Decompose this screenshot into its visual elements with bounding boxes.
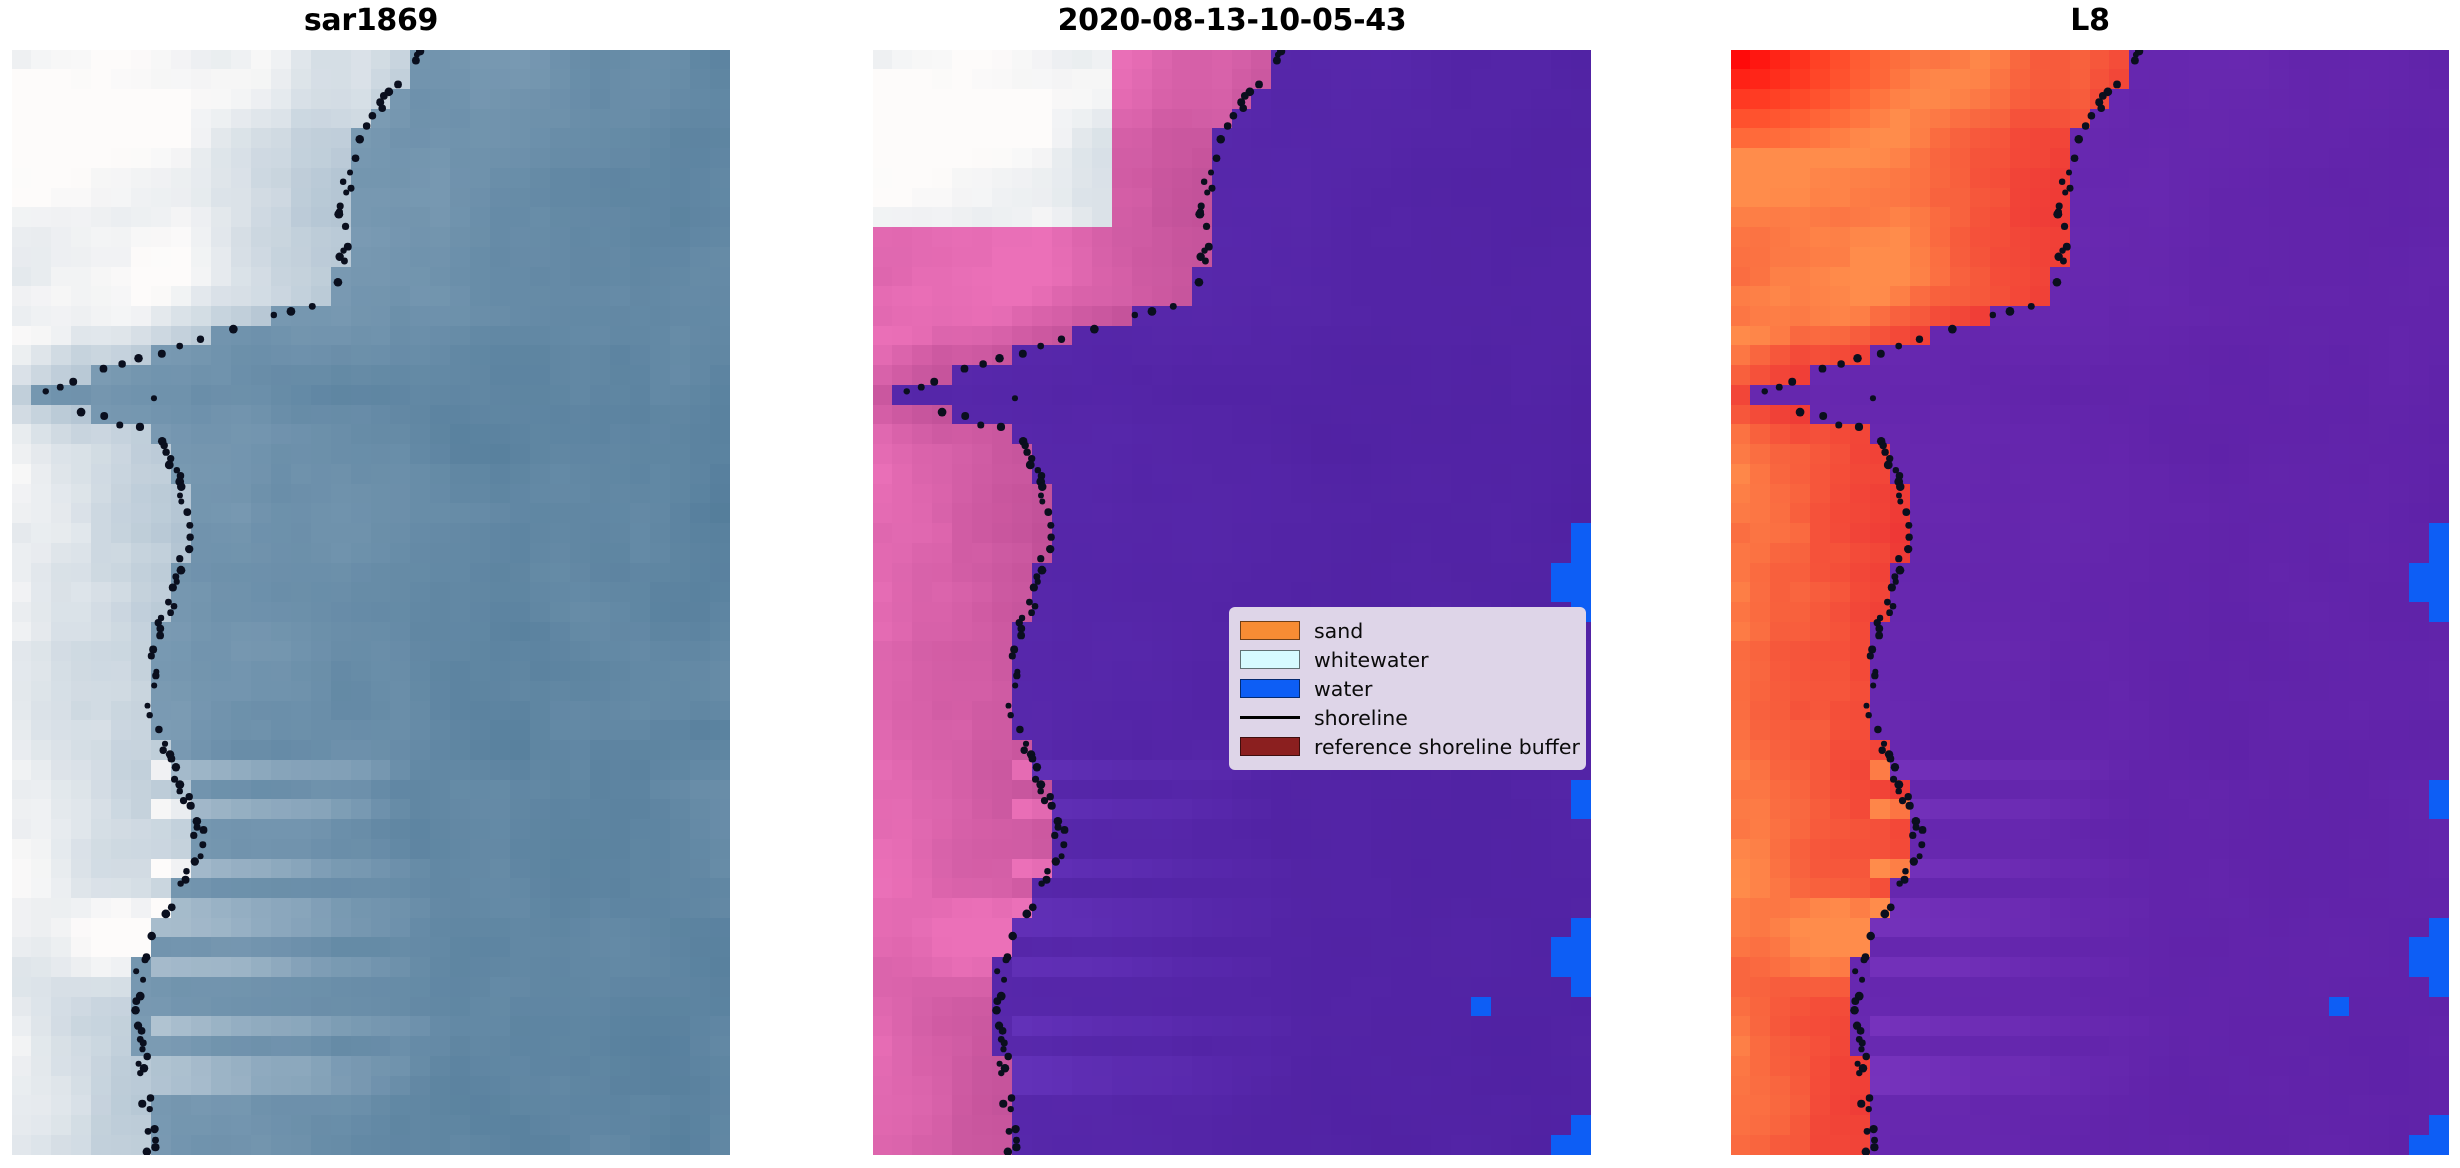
satellite-image-sar <box>12 50 730 1155</box>
legend-item-shoreline: shoreline <box>1240 703 1575 732</box>
legend-swatch-sand-icon <box>1240 621 1300 640</box>
image-axes-classified <box>873 50 1591 1155</box>
panel-title-sar: sar1869 <box>12 4 730 38</box>
panel-title-classified: 2020-08-13-10-05-43 <box>873 4 1591 38</box>
figure-canvas: sar1869 2020-08-13-10-05-43 L8 sand whit… <box>0 0 2460 1168</box>
panel-sar: sar1869 <box>12 0 730 1168</box>
legend-swatch-reference-buffer-icon <box>1240 737 1300 756</box>
legend-swatch-shoreline-icon <box>1240 708 1300 727</box>
legend-label-water: water <box>1314 677 1372 701</box>
panel-title-l8: L8 <box>1731 4 2449 38</box>
image-axes-l8 <box>1731 50 2449 1155</box>
legend-label-reference-shoreline-buffer: reference shoreline buffer <box>1314 735 1580 759</box>
legend-label-whitewater: whitewater <box>1314 648 1429 672</box>
legend-label-shoreline: shoreline <box>1314 706 1408 730</box>
panel-l8: L8 <box>1731 0 2449 1168</box>
panel-classified: 2020-08-13-10-05-43 <box>873 0 1591 1168</box>
legend-item-water: water <box>1240 674 1575 703</box>
legend-swatch-whitewater-icon <box>1240 650 1300 669</box>
legend-label-sand: sand <box>1314 619 1363 643</box>
legend-item-whitewater: whitewater <box>1240 645 1575 674</box>
legend-item-reference-shoreline-buffer: reference shoreline buffer <box>1240 732 1575 761</box>
image-axes-sar <box>12 50 730 1155</box>
legend-box: sand whitewater water shoreline referenc… <box>1229 607 1586 770</box>
legend-item-sand: sand <box>1240 616 1575 645</box>
legend-swatch-water-icon <box>1240 679 1300 698</box>
satellite-image-l8 <box>1731 50 2449 1155</box>
satellite-image-classified <box>873 50 1591 1155</box>
